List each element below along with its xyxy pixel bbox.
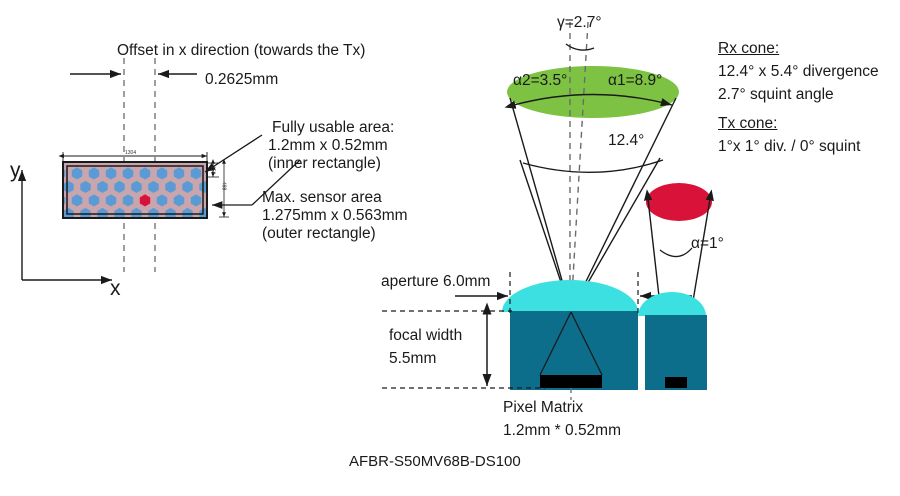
reference-pixel xyxy=(140,194,151,207)
gamma-label: γ=2.7° xyxy=(557,13,602,33)
alpha2-label: α2=3.5° xyxy=(513,71,567,91)
pixel-matrix-label-line1: Pixel Matrix xyxy=(503,398,583,418)
tx-emitter-die xyxy=(665,377,687,388)
die-width-value: 1304 xyxy=(125,150,136,156)
total-divergence-arc xyxy=(523,160,663,172)
diagram-canvas: Offset in x direction (towards the Tx) 0… xyxy=(0,0,900,496)
max-sensor-callout-line3: (outer rectangle) xyxy=(262,224,376,244)
max-sensor-callout-line2: 1.275mm x 0.563mm xyxy=(262,206,408,226)
tx-alpha-label: α=1° xyxy=(691,234,724,254)
usable-area-callout-line1: Fully usable area: xyxy=(272,118,394,138)
aperture-label: aperture 6.0mm xyxy=(381,272,490,292)
pixel-matrix-label-line2: 1.2mm * 0.52mm xyxy=(503,421,621,441)
pixel-array xyxy=(46,163,219,220)
axis-y-label: y xyxy=(10,158,21,185)
tx-cone-line1: 1°x 1° div. / 0° squint xyxy=(718,137,860,157)
rx-cone-line1: 12.4° x 5.4° divergence xyxy=(718,62,879,82)
die-dim-488: 488 xyxy=(220,182,226,190)
usable-area-callout-line3: (inner rectangle) xyxy=(268,154,381,174)
focal-width-label-line1: focal width xyxy=(389,326,462,346)
tx-alpha-arc xyxy=(660,248,692,257)
rx-cone-heading: Rx cone: xyxy=(718,39,779,59)
alpha1-label: α1=8.9° xyxy=(608,71,662,91)
offset-value: 0.2625mm xyxy=(205,70,278,90)
usable-area-callout-line2: 1.2mm x 0.52mm xyxy=(268,136,388,156)
focal-width-label-line2: 5.5mm xyxy=(389,349,436,369)
figure-caption: AFBR-S50MV68B-DS100 xyxy=(349,452,521,471)
axis-x-label: x xyxy=(110,276,121,303)
max-sensor-callout-line1: Max. sensor area xyxy=(262,188,382,208)
total-divergence-label: 12.4° xyxy=(608,131,644,151)
die-dim-150: 150 xyxy=(209,166,215,174)
offset-title: Offset in x direction (towards the Tx) xyxy=(117,41,365,61)
rx-pixel-matrix-die xyxy=(540,375,602,388)
tx-cone-heading: Tx cone: xyxy=(718,114,777,134)
rx-cone-line2: 2.7° squint angle xyxy=(718,85,834,105)
tx-beam-footprint xyxy=(646,183,712,221)
